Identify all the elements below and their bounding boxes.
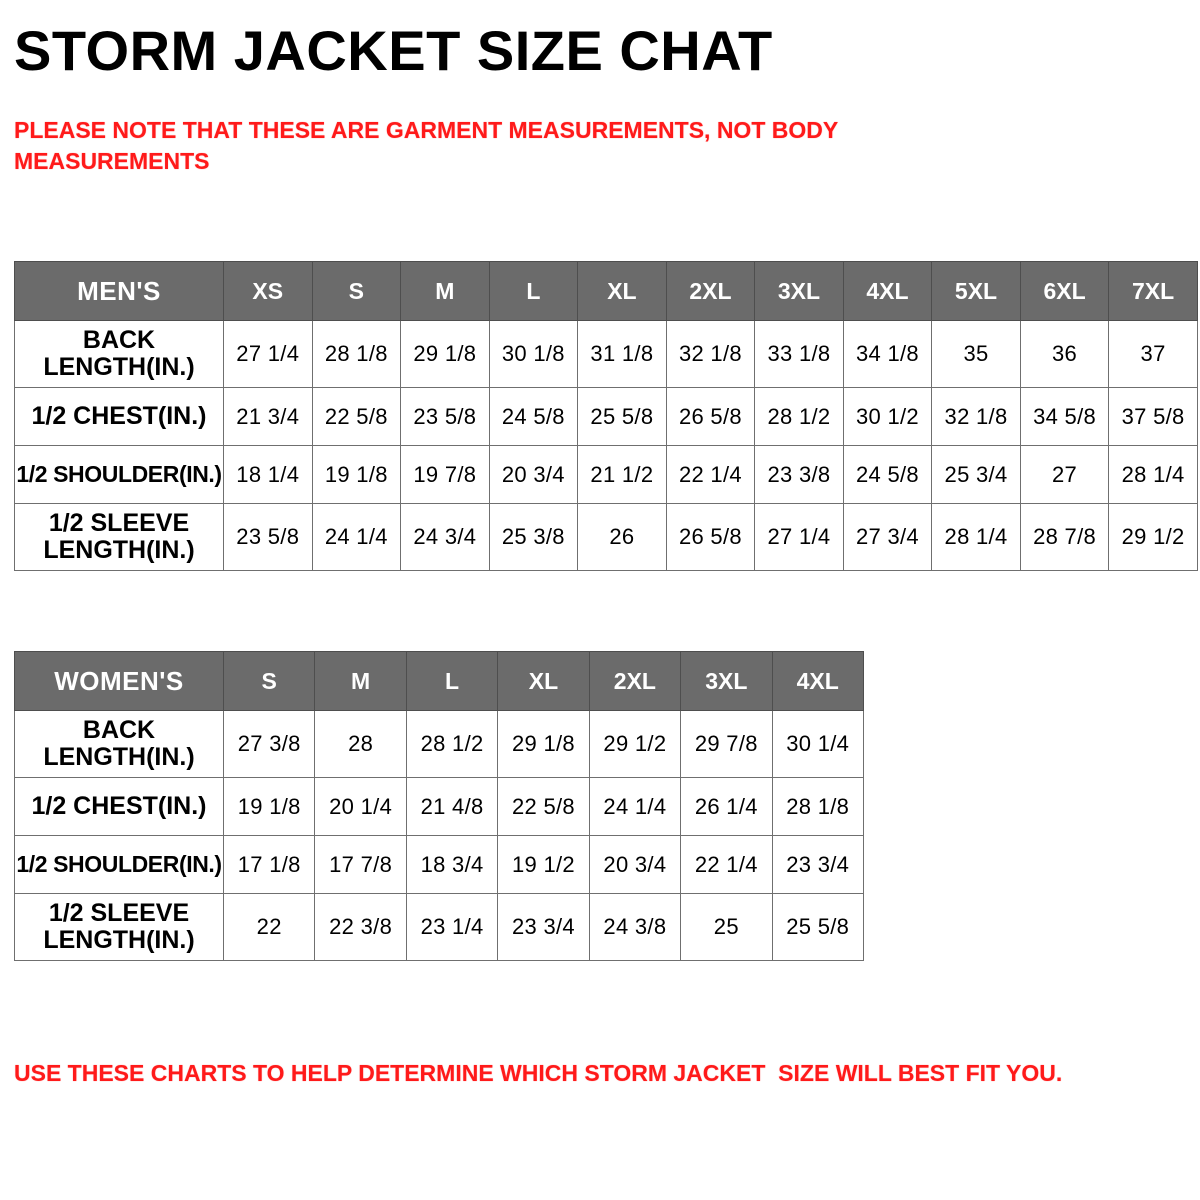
mens-shoulder-6xl: 27 (1020, 446, 1109, 504)
label-line-2: LENGTH(IN.) (43, 743, 194, 771)
womens-table-header: WOMEN'S S M L XL 2XL 3XL 4XL (15, 652, 864, 711)
mens-sleeve-7xl: 29 1/2 (1109, 504, 1198, 571)
fit-guidance-note: USE THESE CHARTS TO HELP DETERMINE WHICH… (14, 1059, 1184, 1089)
mens-chest-3xl: 28 1/2 (755, 388, 844, 446)
label-line-2: LENGTH(IN.) (43, 536, 194, 564)
label-line-2: LENGTH(IN.) (43, 353, 194, 381)
mens-shoulder-3xl: 23 3/8 (755, 446, 844, 504)
mens-chest-xs: 21 3/4 (224, 388, 313, 446)
mens-chest-m: 23 5/8 (401, 388, 490, 446)
mens-col-xs: XS (224, 262, 313, 321)
womens-back-s: 27 3/8 (224, 711, 315, 778)
womens-header-row: WOMEN'S S M L XL 2XL 3XL 4XL (15, 652, 864, 711)
womens-row-label-chest: 1/2 CHEST(IN.) (15, 778, 224, 836)
mens-sleeve-xs: 23 5/8 (224, 504, 313, 571)
mens-back-s: 28 1/8 (312, 321, 401, 388)
womens-col-l: L (406, 652, 497, 711)
womens-row-label-shoulder: 1/2 SHOULDER(IN.) (15, 836, 224, 894)
mens-sleeve-m: 24 3/4 (401, 504, 490, 571)
mens-back-xl: 31 1/8 (578, 321, 667, 388)
mens-sleeve-xl: 26 (578, 504, 667, 571)
mens-back-3xl: 33 1/8 (755, 321, 844, 388)
table-row: BACK LENGTH(IN.) 27 1/4 28 1/8 29 1/8 30… (15, 321, 1198, 388)
mens-table-body: BACK LENGTH(IN.) 27 1/4 28 1/8 29 1/8 30… (15, 321, 1198, 571)
womens-col-3xl: 3XL (681, 652, 772, 711)
womens-sleeve-2xl: 24 3/8 (589, 894, 680, 961)
womens-shoulder-2xl: 20 3/4 (589, 836, 680, 894)
mens-row-label-shoulder: 1/2 SHOULDER(IN.) (15, 446, 224, 504)
mens-back-6xl: 36 (1020, 321, 1109, 388)
mens-shoulder-s: 19 1/8 (312, 446, 401, 504)
mens-shoulder-7xl: 28 1/4 (1109, 446, 1198, 504)
womens-sleeve-s: 22 (224, 894, 315, 961)
mens-col-m: M (401, 262, 490, 321)
mens-shoulder-2xl: 22 1/4 (666, 446, 755, 504)
mens-sleeve-2xl: 26 5/8 (666, 504, 755, 571)
table-row: 1/2 SHOULDER(IN.) 17 1/8 17 7/8 18 3/4 1… (15, 836, 864, 894)
mens-shoulder-l: 20 3/4 (489, 446, 578, 504)
womens-chest-l: 21 4/8 (406, 778, 497, 836)
womens-col-s: S (224, 652, 315, 711)
mens-sleeve-4xl: 27 3/4 (843, 504, 932, 571)
womens-col-2xl: 2XL (589, 652, 680, 711)
mens-chest-2xl: 26 5/8 (666, 388, 755, 446)
mens-sleeve-3xl: 27 1/4 (755, 504, 844, 571)
label-line-2: LENGTH(IN.) (43, 926, 194, 954)
mens-chest-5xl: 32 1/8 (932, 388, 1021, 446)
womens-sleeve-4xl: 25 5/8 (772, 894, 863, 961)
mens-table-header: MEN'S XS S M L XL 2XL 3XL 4XL 5XL 6XL 7X… (15, 262, 1198, 321)
mens-shoulder-5xl: 25 3/4 (932, 446, 1021, 504)
womens-size-table: WOMEN'S S M L XL 2XL 3XL 4XL BACK LENGTH… (14, 651, 864, 961)
womens-table-body: BACK LENGTH(IN.) 27 3/8 28 28 1/2 29 1/8… (15, 711, 864, 961)
table-row: 1/2 CHEST(IN.) 19 1/8 20 1/4 21 4/8 22 5… (15, 778, 864, 836)
mens-row-label-chest: 1/2 CHEST(IN.) (15, 388, 224, 446)
womens-chest-2xl: 24 1/4 (589, 778, 680, 836)
mens-row-label-sleeve-length: 1/2 SLEEVE LENGTH(IN.) (15, 504, 224, 571)
mens-chest-4xl: 30 1/2 (843, 388, 932, 446)
mens-chest-6xl: 34 5/8 (1020, 388, 1109, 446)
mens-back-5xl: 35 (932, 321, 1021, 388)
womens-back-m: 28 (315, 711, 406, 778)
womens-back-4xl: 30 1/4 (772, 711, 863, 778)
mens-sleeve-l: 25 3/8 (489, 504, 578, 571)
table-row: 1/2 SLEEVE LENGTH(IN.) 23 5/8 24 1/4 24 … (15, 504, 1198, 571)
mens-shoulder-m: 19 7/8 (401, 446, 490, 504)
mens-chest-s: 22 5/8 (312, 388, 401, 446)
size-chart-page: STORM JACKET SIZE CHAT PLEASE NOTE THAT … (0, 0, 1200, 1200)
mens-size-table: MEN'S XS S M L XL 2XL 3XL 4XL 5XL 6XL 7X… (14, 261, 1198, 571)
mens-shoulder-xl: 21 1/2 (578, 446, 667, 504)
womens-col-m: M (315, 652, 406, 711)
womens-chest-4xl: 28 1/8 (772, 778, 863, 836)
label-line-1: BACK (83, 716, 155, 744)
mens-sleeve-6xl: 28 7/8 (1020, 504, 1109, 571)
mens-back-xs: 27 1/4 (224, 321, 313, 388)
womens-col-4xl: 4XL (772, 652, 863, 711)
mens-col-l: L (489, 262, 578, 321)
mens-chest-l: 24 5/8 (489, 388, 578, 446)
womens-shoulder-3xl: 22 1/4 (681, 836, 772, 894)
table-row: 1/2 SLEEVE LENGTH(IN.) 22 22 3/8 23 1/4 … (15, 894, 864, 961)
womens-shoulder-m: 17 7/8 (315, 836, 406, 894)
mens-back-m: 29 1/8 (401, 321, 490, 388)
womens-row-label-sleeve-length: 1/2 SLEEVE LENGTH(IN.) (15, 894, 224, 961)
mens-col-2xl: 2XL (666, 262, 755, 321)
mens-col-6xl: 6XL (1020, 262, 1109, 321)
womens-shoulder-s: 17 1/8 (224, 836, 315, 894)
womens-back-l: 28 1/2 (406, 711, 497, 778)
womens-back-xl: 29 1/8 (498, 711, 589, 778)
mens-col-3xl: 3XL (755, 262, 844, 321)
table-row: 1/2 SHOULDER(IN.) 18 1/4 19 1/8 19 7/8 2… (15, 446, 1198, 504)
womens-back-3xl: 29 7/8 (681, 711, 772, 778)
mens-shoulder-xs: 18 1/4 (224, 446, 313, 504)
mens-back-7xl: 37 (1109, 321, 1198, 388)
label-line-1: 1/2 SLEEVE (49, 899, 189, 927)
mens-lead-header: MEN'S (15, 262, 224, 321)
womens-sleeve-m: 22 3/8 (315, 894, 406, 961)
mens-back-4xl: 34 1/8 (843, 321, 932, 388)
womens-chest-m: 20 1/4 (315, 778, 406, 836)
womens-chest-s: 19 1/8 (224, 778, 315, 836)
womens-sleeve-3xl: 25 (681, 894, 772, 961)
mens-back-l: 30 1/8 (489, 321, 578, 388)
mens-col-7xl: 7XL (1109, 262, 1198, 321)
mens-sleeve-s: 24 1/4 (312, 504, 401, 571)
label-line-1: 1/2 SLEEVE (49, 509, 189, 537)
womens-back-2xl: 29 1/2 (589, 711, 680, 778)
mens-back-2xl: 32 1/8 (666, 321, 755, 388)
garment-measurement-note: PLEASE NOTE THAT THESE ARE GARMENT MEASU… (14, 115, 974, 177)
womens-col-xl: XL (498, 652, 589, 711)
mens-col-4xl: 4XL (843, 262, 932, 321)
womens-sleeve-xl: 23 3/4 (498, 894, 589, 961)
womens-shoulder-l: 18 3/4 (406, 836, 497, 894)
womens-lead-header: WOMEN'S (15, 652, 224, 711)
mens-row-label-back-length: BACK LENGTH(IN.) (15, 321, 224, 388)
table-row: 1/2 CHEST(IN.) 21 3/4 22 5/8 23 5/8 24 5… (15, 388, 1198, 446)
mens-header-row: MEN'S XS S M L XL 2XL 3XL 4XL 5XL 6XL 7X… (15, 262, 1198, 321)
womens-row-label-back-length: BACK LENGTH(IN.) (15, 711, 224, 778)
mens-sleeve-5xl: 28 1/4 (932, 504, 1021, 571)
womens-sleeve-l: 23 1/4 (406, 894, 497, 961)
mens-shoulder-4xl: 24 5/8 (843, 446, 932, 504)
mens-col-5xl: 5XL (932, 262, 1021, 321)
mens-col-s: S (312, 262, 401, 321)
mens-chest-7xl: 37 5/8 (1109, 388, 1198, 446)
mens-col-xl: XL (578, 262, 667, 321)
womens-shoulder-4xl: 23 3/4 (772, 836, 863, 894)
womens-chest-xl: 22 5/8 (498, 778, 589, 836)
womens-shoulder-xl: 19 1/2 (498, 836, 589, 894)
table-row: BACK LENGTH(IN.) 27 3/8 28 28 1/2 29 1/8… (15, 711, 864, 778)
label-line-1: BACK (83, 326, 155, 354)
page-title: STORM JACKET SIZE CHAT (14, 22, 773, 81)
womens-chest-3xl: 26 1/4 (681, 778, 772, 836)
mens-chest-xl: 25 5/8 (578, 388, 667, 446)
